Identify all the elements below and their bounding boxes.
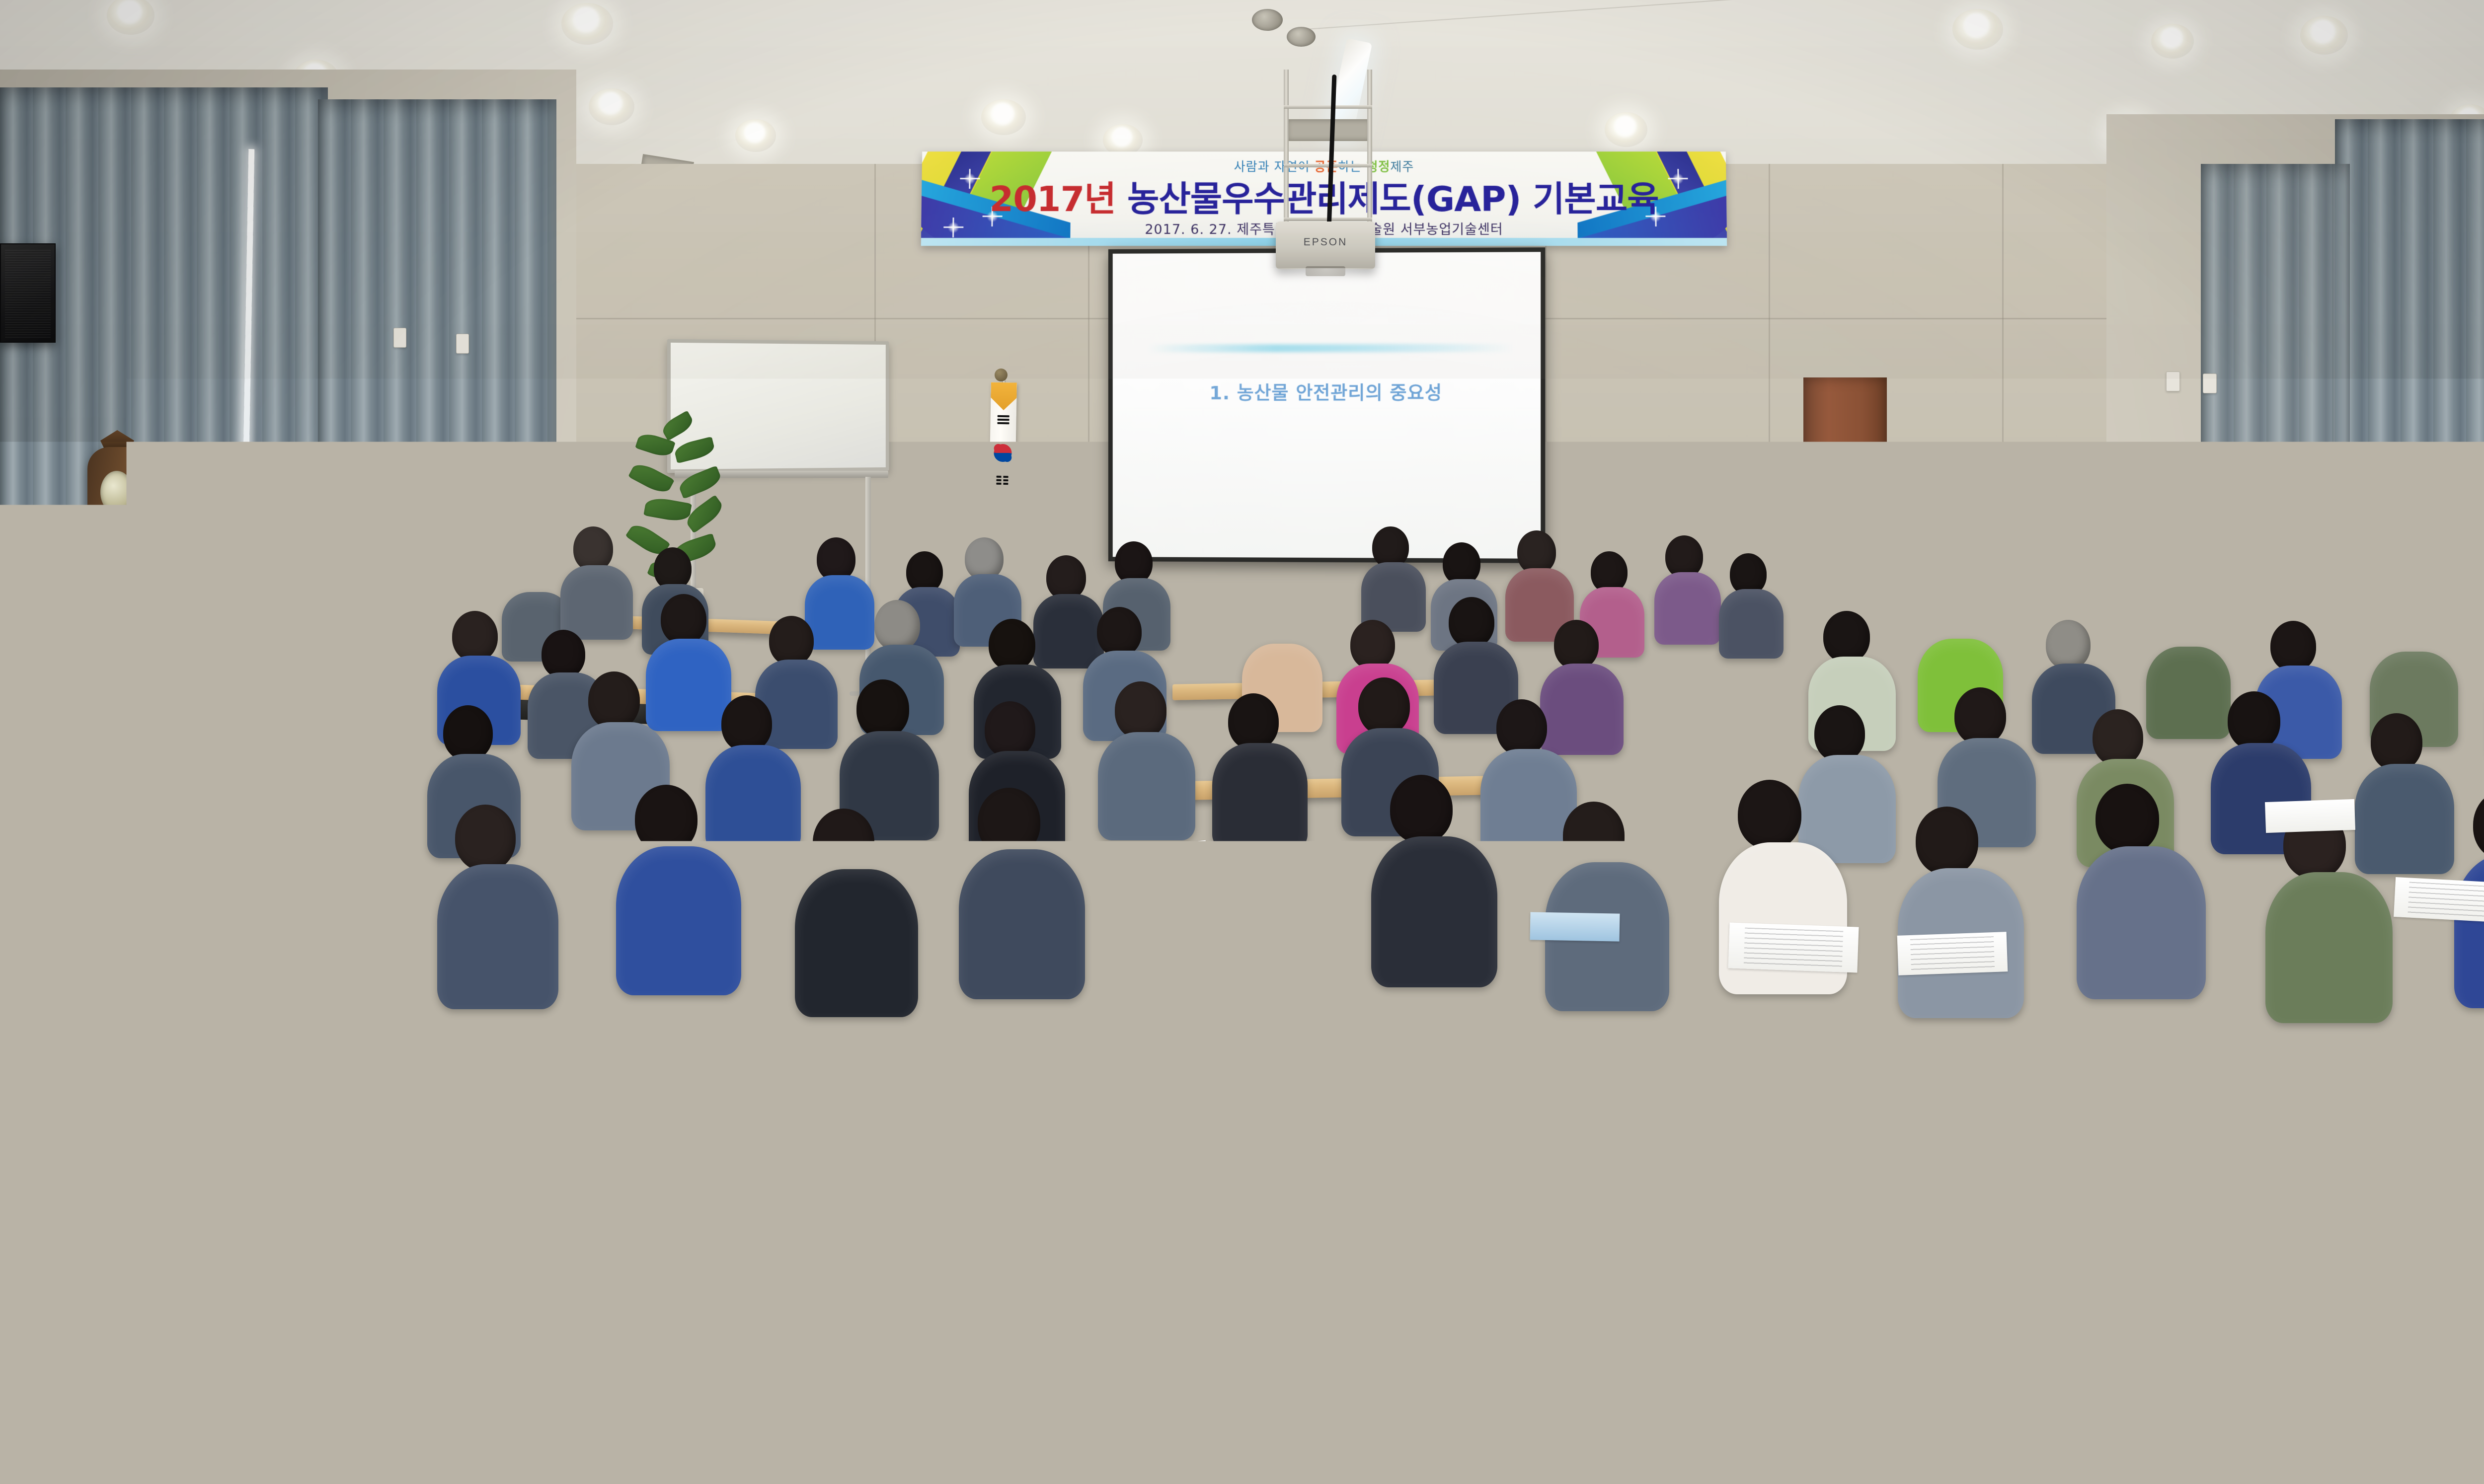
presenter-face [1747,502,1762,520]
handout-paper[interactable] [2394,877,2484,923]
slide-accent-band [1147,344,1515,353]
screen-glare [1113,252,1541,559]
cap-buckle [630,745,644,755]
projector-lens [1306,266,1345,276]
slide-heading: 1. 농산물 안전관리의 중요성 [1113,377,1541,404]
banner-title: 2017년 농산물우수관리제도(GAP) 기본교육 [989,171,1659,222]
flag-trigram-gon [996,476,1008,486]
projector-mount-rung [1284,164,1372,167]
light-switch-right[interactable] [2166,371,2180,391]
ceiling-downlight [561,3,613,45]
light-switch-left[interactable] [393,328,406,348]
foreground-light-shirt [0,967,189,1275]
projector-mount-rod-left [1284,70,1289,228]
flag-taeguk-circle [994,444,1012,462]
handout-paper[interactable] [1728,922,1859,972]
ceiling-downlight [1605,112,1647,147]
korean-flag [988,382,1017,550]
projector-mount-rod-right [1367,70,1372,228]
floor-outlet [1304,830,1333,843]
attendee-head [1515,839,1664,1003]
projector-brand-label: EPSON [1276,236,1375,248]
projection-screen: 1. 농산물 안전관리의 중요성 [1113,252,1541,559]
attendee-head [2096,735,2255,909]
ceiling-downlight [589,88,634,125]
door-knob[interactable] [1811,526,1824,533]
wall-speaker-left [0,243,56,343]
projection-screen-frame: 1. 농산물 안전관리의 중요성 [1108,247,1545,563]
light-switch-left-2[interactable] [456,334,469,354]
lecture-hall-photo: 사람과 자연이 공존하는 청정제주 2017년 농산물우수관리제도(GAP) 기… [0,0,2484,1484]
window-curtain-left [0,87,328,748]
flag-trigram-geon [997,415,1009,426]
denim-cap [581,690,710,770]
ceiling-vent [1287,119,1371,141]
handout-paper[interactable] [2265,799,2355,833]
grandfather-clock [87,447,147,765]
ceiling-downlight [735,119,776,152]
ceiling-downlight [2151,24,2194,59]
light-switch-right-2[interactable] [2203,373,2217,393]
ceiling-downlight [2300,16,2348,55]
presenter-head [1702,476,1748,527]
presenter-shirt [1693,523,1774,640]
ceiling-speaker [1287,27,1316,47]
presenter-trousers [1702,635,1766,720]
banner-title-main: 농산물우수관리제도(GAP) 기본교육 [1127,179,1659,220]
ceiling-downlight [1952,9,2003,50]
ceiling-downlight [981,99,1026,135]
flag-finial [995,369,1008,381]
clock-face [100,471,133,514]
floor-outlet [1319,1058,1368,1077]
ceiling-speaker [1252,9,1283,31]
banner-title-year: 2017년 [989,179,1127,220]
projector-mount-rung [1284,105,1372,109]
handout-paper[interactable] [1897,932,2008,975]
ceiling-projector: EPSON [1276,222,1375,269]
